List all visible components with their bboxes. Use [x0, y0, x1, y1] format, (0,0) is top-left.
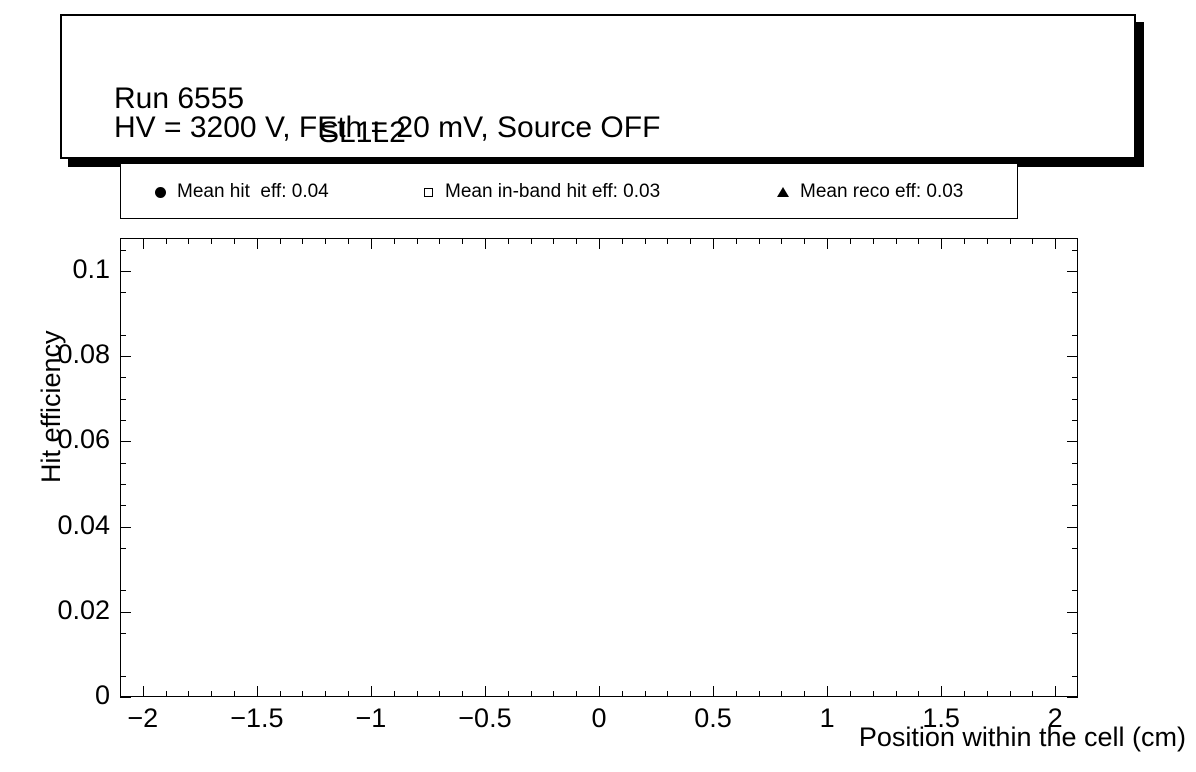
y-tick-minor-right — [1072, 250, 1078, 251]
x-tick-minor — [280, 691, 281, 697]
x-tick-minor-top — [553, 238, 554, 244]
x-tick-minor — [781, 691, 782, 697]
y-tick-minor-right — [1072, 441, 1078, 442]
x-tick-minor — [120, 691, 121, 697]
x-tick-minor — [302, 691, 303, 697]
efficiency-plot-canvas: Run 6555 SL1L2 HV = 3200 V, FEth = 20 mV… — [0, 0, 1196, 772]
legend-label-inband-eff: Mean in-band hit eff: 0.03 — [445, 181, 660, 203]
y-tick-minor — [120, 633, 126, 634]
legend-box: Mean hit eff: 0.04 Mean in-band hit eff:… — [120, 163, 1018, 219]
x-tick-minor-top — [348, 238, 349, 244]
x-tick-label: 0.5 — [668, 703, 758, 734]
x-tick-minor-top — [781, 238, 782, 244]
x-tick-minor — [690, 691, 691, 697]
x-tick-minor-top — [508, 238, 509, 244]
x-tick-minor — [987, 691, 988, 697]
x-tick-label: −0.5 — [440, 703, 530, 734]
x-tick-minor-top — [873, 238, 874, 244]
x-tick-minor-top — [622, 238, 623, 244]
x-tick-minor-top — [120, 238, 121, 244]
x-tick-minor — [417, 691, 418, 697]
x-tick-minor-top — [234, 238, 235, 244]
legend-entry-reco-eff: Mean reco eff: 0.03 — [766, 164, 963, 220]
y-tick-label: 0.06 — [20, 424, 110, 455]
x-tick-minor-top — [188, 238, 189, 244]
y-tick-minor — [120, 250, 126, 251]
x-tick-label: −1 — [326, 703, 416, 734]
legend-label-reco-eff: Mean reco eff: 0.03 — [800, 181, 963, 203]
y-tick-major-right — [1067, 612, 1078, 613]
x-tick-minor-top — [576, 238, 577, 244]
y-tick-minor — [120, 335, 126, 336]
x-tick-minor-top — [417, 238, 418, 244]
x-tick-minor-top — [690, 238, 691, 244]
y-tick-minor-right — [1072, 505, 1078, 506]
x-tick-minor-top — [804, 238, 805, 244]
x-tick-major-top — [713, 238, 714, 249]
open-square-icon — [411, 188, 445, 197]
x-tick-minor-top — [211, 238, 212, 244]
x-tick-minor-top — [918, 238, 919, 244]
x-tick-minor — [667, 691, 668, 697]
y-tick-label: 0.02 — [20, 595, 110, 626]
filled-triangle-icon — [766, 187, 800, 197]
x-tick-label: 1.5 — [896, 703, 986, 734]
y-tick-minor-right — [1072, 399, 1078, 400]
x-tick-minor — [896, 691, 897, 697]
x-tick-minor — [166, 691, 167, 697]
y-tick-minor — [120, 505, 126, 506]
y-tick-minor-right — [1072, 463, 1078, 464]
x-tick-major-top — [827, 238, 828, 249]
x-tick-minor — [736, 691, 737, 697]
legend-label-hit-eff: Mean hit eff: 0.04 — [177, 181, 329, 203]
y-tick-major-right — [1067, 271, 1078, 272]
filled-circle-icon — [143, 187, 177, 198]
x-tick-minor-top — [531, 238, 532, 244]
y-tick-major-right — [1067, 527, 1078, 528]
x-tick-minor-top — [462, 238, 463, 244]
x-tick-minor-top — [759, 238, 760, 244]
x-tick-label: 1 — [782, 703, 872, 734]
x-tick-minor — [850, 691, 851, 697]
y-tick-minor — [120, 463, 126, 464]
y-tick-major — [120, 697, 131, 698]
legend-entry-inband-eff: Mean in-band hit eff: 0.03 — [411, 164, 660, 220]
x-tick-major — [143, 686, 144, 697]
x-tick-minor-top — [987, 238, 988, 244]
x-tick-minor — [804, 691, 805, 697]
y-tick-minor-right — [1072, 420, 1078, 421]
plot-frame — [120, 238, 1078, 697]
y-tick-minor — [120, 441, 126, 442]
x-tick-minor — [873, 691, 874, 697]
x-tick-minor — [576, 691, 577, 697]
x-tick-major — [827, 686, 828, 697]
x-tick-minor — [1010, 691, 1011, 697]
x-tick-minor — [394, 691, 395, 697]
x-tick-label: 2 — [1010, 703, 1100, 734]
y-tick-minor-right — [1072, 633, 1078, 634]
y-tick-minor-right — [1072, 377, 1078, 378]
x-tick-minor-top — [371, 238, 372, 244]
y-tick-major-right — [1067, 697, 1078, 698]
x-tick-minor — [371, 691, 372, 697]
y-tick-label: 0 — [20, 680, 110, 711]
x-tick-minor-top — [439, 238, 440, 244]
x-tick-minor-top — [850, 238, 851, 244]
x-tick-minor — [325, 691, 326, 697]
x-tick-minor-top — [1032, 238, 1033, 244]
x-tick-major-top — [599, 238, 600, 249]
y-tick-major — [120, 271, 131, 272]
x-tick-minor — [485, 691, 486, 697]
x-tick-minor-top — [394, 238, 395, 244]
x-tick-minor-top — [896, 238, 897, 244]
x-tick-minor — [211, 691, 212, 697]
x-tick-minor-top — [645, 238, 646, 244]
x-tick-minor — [462, 691, 463, 697]
x-tick-minor — [1032, 691, 1033, 697]
y-tick-minor-right — [1072, 590, 1078, 591]
x-tick-major — [1055, 686, 1056, 697]
y-tick-label: 0.1 — [20, 254, 110, 285]
x-tick-minor — [964, 691, 965, 697]
x-tick-major — [713, 686, 714, 697]
x-tick-major-top — [1055, 238, 1056, 249]
y-tick-minor — [120, 420, 126, 421]
x-tick-minor-top — [964, 238, 965, 244]
x-tick-minor — [759, 691, 760, 697]
x-tick-minor — [531, 691, 532, 697]
title-box: Run 6555 SL1L2 HV = 3200 V, FEth = 20 mV… — [60, 14, 1136, 159]
x-tick-minor-top — [1010, 238, 1011, 244]
y-tick-minor — [120, 590, 126, 591]
x-tick-minor-top — [302, 238, 303, 244]
x-tick-major — [599, 686, 600, 697]
x-tick-minor — [188, 691, 189, 697]
y-tick-minor — [120, 399, 126, 400]
y-tick-major — [120, 527, 131, 528]
x-tick-minor-top — [736, 238, 737, 244]
y-tick-minor-right — [1072, 484, 1078, 485]
y-tick-minor-right — [1072, 548, 1078, 549]
y-tick-minor-right — [1072, 676, 1078, 677]
y-tick-minor-right — [1072, 335, 1078, 336]
x-tick-minor — [348, 691, 349, 697]
y-tick-minor — [120, 548, 126, 549]
y-tick-major-right — [1067, 356, 1078, 357]
x-tick-minor — [645, 691, 646, 697]
x-tick-minor — [553, 691, 554, 697]
x-tick-minor — [439, 691, 440, 697]
y-tick-major — [120, 356, 131, 357]
legend-entry-hit-eff: Mean hit eff: 0.04 — [143, 164, 329, 220]
x-tick-label: −2 — [98, 703, 188, 734]
x-tick-minor-top — [257, 238, 258, 244]
x-tick-major-top — [143, 238, 144, 249]
y-tick-minor — [120, 377, 126, 378]
x-tick-minor — [508, 691, 509, 697]
y-tick-minor — [120, 292, 126, 293]
x-tick-major-top — [941, 238, 942, 249]
x-tick-minor-top — [485, 238, 486, 244]
x-tick-minor-top — [325, 238, 326, 244]
x-tick-minor — [918, 691, 919, 697]
x-tick-minor-top — [667, 238, 668, 244]
settings-line: HV = 3200 V, FEth = 20 mV, Source OFF — [114, 111, 660, 145]
y-tick-minor — [120, 484, 126, 485]
x-tick-label: −1.5 — [212, 703, 302, 734]
x-tick-minor-top — [166, 238, 167, 244]
x-tick-minor — [257, 691, 258, 697]
y-tick-label: 0.08 — [20, 339, 110, 370]
y-tick-minor-right — [1072, 292, 1078, 293]
y-tick-minor — [120, 676, 126, 677]
x-tick-major — [941, 686, 942, 697]
y-tick-major — [120, 612, 131, 613]
x-tick-minor — [234, 691, 235, 697]
x-tick-label: 0 — [554, 703, 644, 734]
x-tick-minor — [622, 691, 623, 697]
x-tick-minor-top — [280, 238, 281, 244]
y-tick-label: 0.04 — [20, 510, 110, 541]
